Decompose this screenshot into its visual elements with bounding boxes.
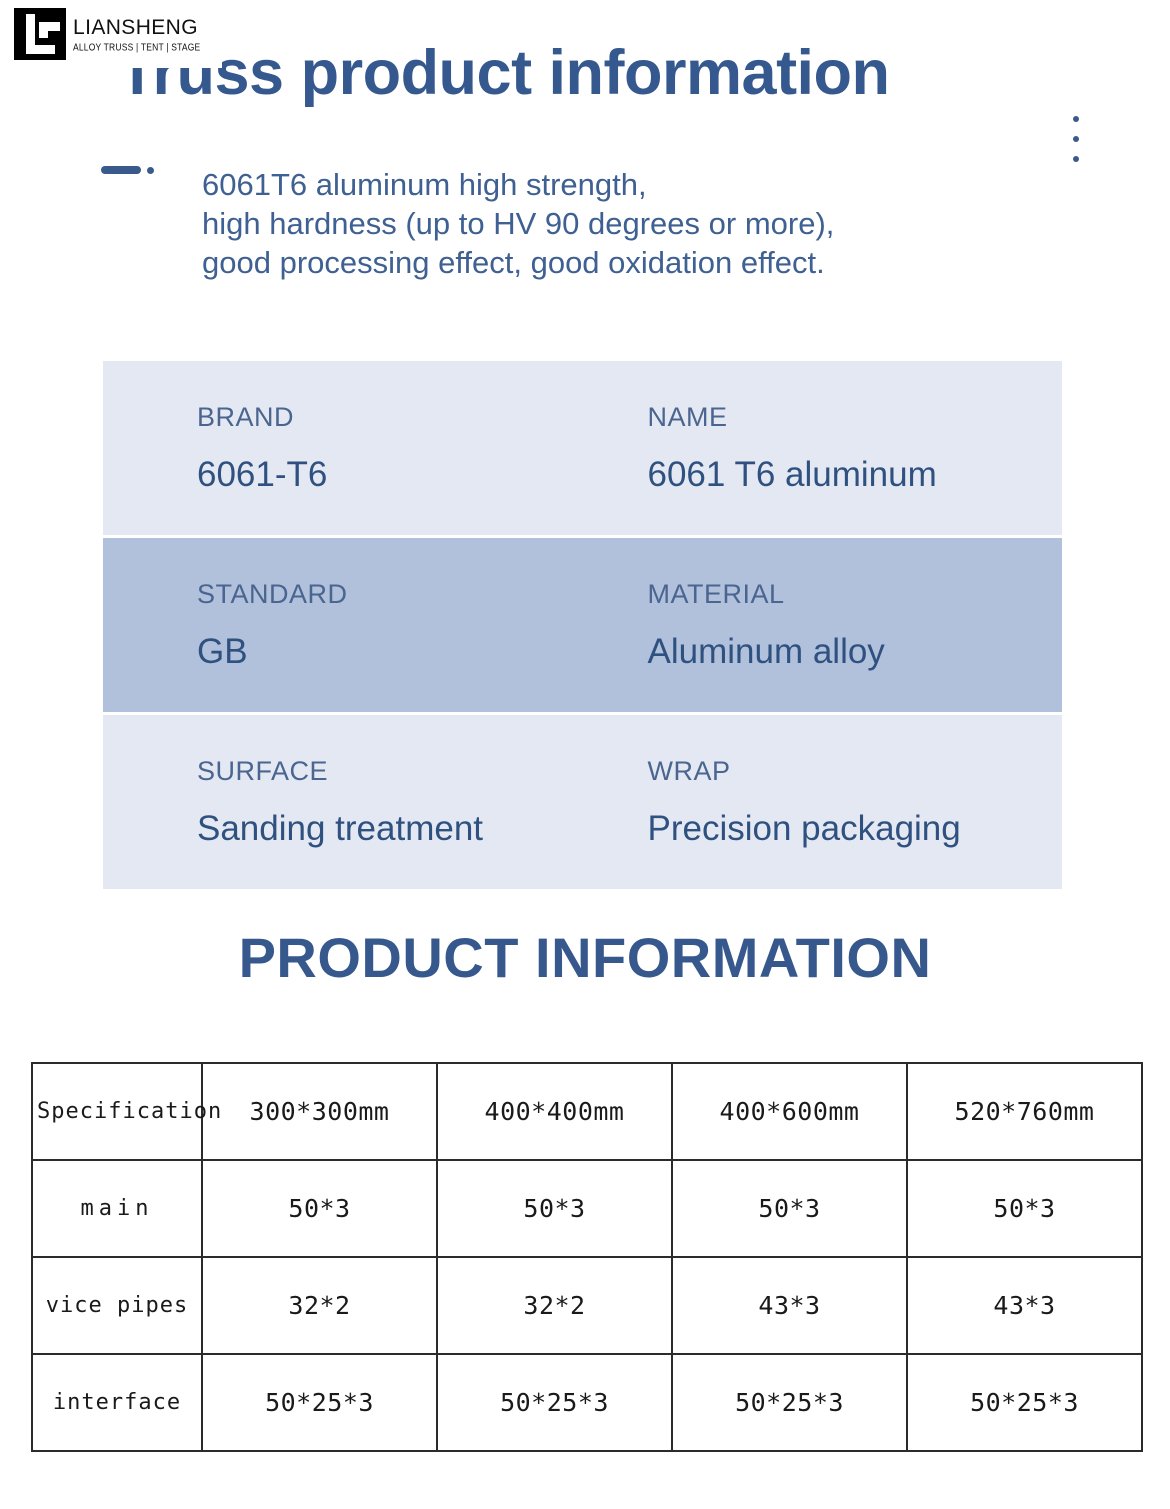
- product-table: Specification 300*300mm 400*400mm 400*60…: [31, 1062, 1143, 1452]
- table-cell: 50*3: [672, 1160, 907, 1257]
- table-cell-row-label: main: [32, 1160, 202, 1257]
- spec-row: STANDARD GB MATERIAL Aluminum alloy: [103, 538, 1062, 712]
- spec-value: 6061-T6: [197, 457, 583, 492]
- spec-value: Precision packaging: [648, 811, 1063, 846]
- spec-cell-name: NAME 6061 T6 aluminum: [583, 361, 1063, 535]
- spec-cell-standard: STANDARD GB: [103, 538, 583, 712]
- spec-panel: BRAND 6061-T6 NAME 6061 T6 aluminum STAN…: [103, 361, 1062, 889]
- table-cell: 300*300mm: [202, 1063, 437, 1160]
- brand-logo-text: LIANSHENG ALLOY TRUSS | TENT | STAGE: [73, 17, 200, 52]
- table-cell-row-label: vice pipes: [32, 1257, 202, 1354]
- table-cell: 43*3: [907, 1257, 1142, 1354]
- spec-label: SURFACE: [197, 758, 583, 785]
- intro-line: good processing effect, good oxidation e…: [202, 244, 1082, 283]
- brand-tagline: ALLOY TRUSS | TENT | STAGE: [73, 42, 200, 52]
- spec-value: Sanding treatment: [197, 811, 583, 846]
- intro-line: 6061T6 aluminum high strength,: [202, 166, 1082, 205]
- table-row: interface 50*25*3 50*25*3 50*25*3 50*25*…: [32, 1354, 1142, 1451]
- spec-value: 6061 T6 aluminum: [648, 457, 1063, 492]
- brand-logo: LIANSHENG ALLOY TRUSS | TENT | STAGE: [0, 0, 222, 68]
- intro-paragraph: 6061T6 aluminum high strength, high hard…: [202, 166, 1082, 282]
- intro-line: high hardness (up to HV 90 degrees or mo…: [202, 205, 1082, 244]
- table-cell: 50*25*3: [672, 1354, 907, 1451]
- section-heading: PRODUCT INFORMATION: [0, 930, 1170, 986]
- spec-cell-surface: SURFACE Sanding treatment: [103, 715, 583, 889]
- spec-cell-material: MATERIAL Aluminum alloy: [583, 538, 1063, 712]
- spec-label: BRAND: [197, 404, 583, 431]
- table-cell: 50*25*3: [202, 1354, 437, 1451]
- table-cell-row-label: interface: [32, 1354, 202, 1451]
- spec-cell-brand: BRAND 6061-T6: [103, 361, 583, 535]
- table-cell: 50*3: [907, 1160, 1142, 1257]
- table-row-header: Specification 300*300mm 400*400mm 400*60…: [32, 1063, 1142, 1160]
- table-cell: 400*400mm: [437, 1063, 672, 1160]
- table-cell: 400*600mm: [672, 1063, 907, 1160]
- table-cell: 50*25*3: [437, 1354, 672, 1451]
- spec-label: NAME: [648, 404, 1063, 431]
- spec-row: BRAND 6061-T6 NAME 6061 T6 aluminum: [103, 361, 1062, 535]
- table-cell: 32*2: [437, 1257, 672, 1354]
- table-cell: 50*3: [202, 1160, 437, 1257]
- spec-label: WRAP: [648, 758, 1063, 785]
- spec-row: SURFACE Sanding treatment WRAP Precision…: [103, 715, 1062, 889]
- table-row: vice pipes 32*2 32*2 43*3 43*3: [32, 1257, 1142, 1354]
- dash-dot-bullet-icon: [101, 166, 154, 174]
- ls-monogram-icon: [14, 8, 66, 60]
- table-row: main 50*3 50*3 50*3 50*3: [32, 1160, 1142, 1257]
- spec-value: Aluminum alloy: [648, 634, 1063, 669]
- product-info-page: { "brand": { "logo_name": "LIANSHENG", "…: [0, 0, 1170, 1509]
- table-cell: 50*3: [437, 1160, 672, 1257]
- table-cell: 520*760mm: [907, 1063, 1142, 1160]
- spec-label: MATERIAL: [648, 581, 1063, 608]
- spec-label: STANDARD: [197, 581, 583, 608]
- table-cell: 32*2: [202, 1257, 437, 1354]
- table-cell: 43*3: [672, 1257, 907, 1354]
- spec-cell-wrap: WRAP Precision packaging: [583, 715, 1063, 889]
- table-cell-row-label: Specification: [32, 1063, 202, 1160]
- page-title: Truss product information: [118, 42, 890, 105]
- brand-name: LIANSHENG: [73, 17, 200, 38]
- table-cell: 50*25*3: [907, 1354, 1142, 1451]
- decorative-dots-icon: [1073, 116, 1079, 176]
- spec-value: GB: [197, 634, 583, 669]
